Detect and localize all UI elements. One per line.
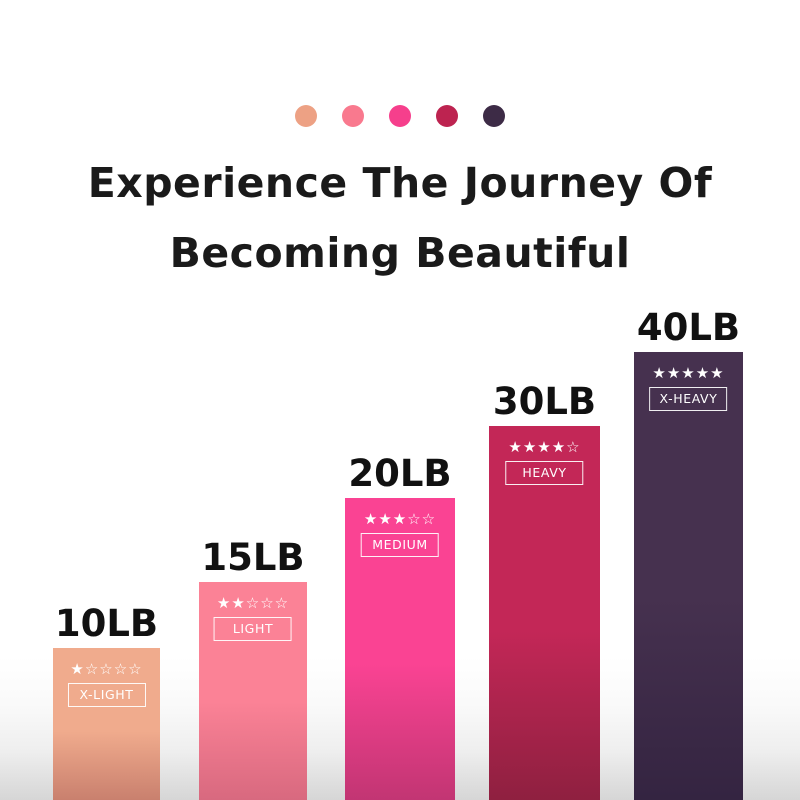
bar-40lb-value-label: 40LB	[637, 309, 740, 346]
bar-20lb-column: ★★★☆☆MEDIUM	[345, 498, 455, 800]
product-infographic: Experience The Journey Of Becoming Beaut…	[0, 0, 800, 800]
bar-10lb-column: ★☆☆☆☆X-LIGHT	[53, 648, 160, 800]
bar-30lb-column: ★★★★☆HEAVY	[489, 426, 600, 800]
bar-10lb-star-rating: ★☆☆☆☆	[70, 662, 142, 677]
bar-30lb-badge: ★★★★☆HEAVY	[497, 440, 592, 485]
bar-15lb[interactable]: 15LB★★☆☆☆LIGHT	[199, 582, 307, 800]
resistance-bar-chart: 10LB★☆☆☆☆X-LIGHT15LB★★☆☆☆LIGHT20LB★★★☆☆M…	[0, 0, 800, 800]
bar-20lb-tier-label: MEDIUM	[361, 533, 439, 557]
bar-20lb[interactable]: 20LB★★★☆☆MEDIUM	[345, 498, 455, 800]
bar-30lb-tier-label: HEAVY	[505, 461, 583, 485]
bar-15lb-tier-label: LIGHT	[214, 617, 292, 641]
bar-10lb-tier-label: X-LIGHT	[67, 683, 145, 707]
bar-15lb-value-label: 15LB	[201, 539, 304, 576]
bar-10lb-badge: ★☆☆☆☆X-LIGHT	[60, 662, 152, 707]
bar-15lb-badge: ★★☆☆☆LIGHT	[207, 596, 300, 641]
bar-40lb[interactable]: 40LB★★★★★X-HEAVY	[634, 352, 743, 800]
bar-40lb-badge: ★★★★★X-HEAVY	[642, 366, 736, 411]
bar-20lb-star-rating: ★★★☆☆	[364, 512, 436, 527]
bar-15lb-column: ★★☆☆☆LIGHT	[199, 582, 307, 800]
bar-40lb-column: ★★★★★X-HEAVY	[634, 352, 743, 800]
bar-10lb-value-label: 10LB	[55, 605, 158, 642]
bar-30lb[interactable]: 30LB★★★★☆HEAVY	[489, 426, 600, 800]
bar-40lb-tier-label: X-HEAVY	[649, 387, 727, 411]
bar-40lb-star-rating: ★★★★★	[652, 366, 724, 381]
bar-30lb-star-rating: ★★★★☆	[508, 440, 580, 455]
bar-30lb-value-label: 30LB	[493, 383, 596, 420]
bar-15lb-star-rating: ★★☆☆☆	[217, 596, 289, 611]
bar-10lb[interactable]: 10LB★☆☆☆☆X-LIGHT	[53, 648, 160, 800]
bar-20lb-badge: ★★★☆☆MEDIUM	[353, 512, 448, 557]
bar-20lb-value-label: 20LB	[348, 455, 451, 492]
